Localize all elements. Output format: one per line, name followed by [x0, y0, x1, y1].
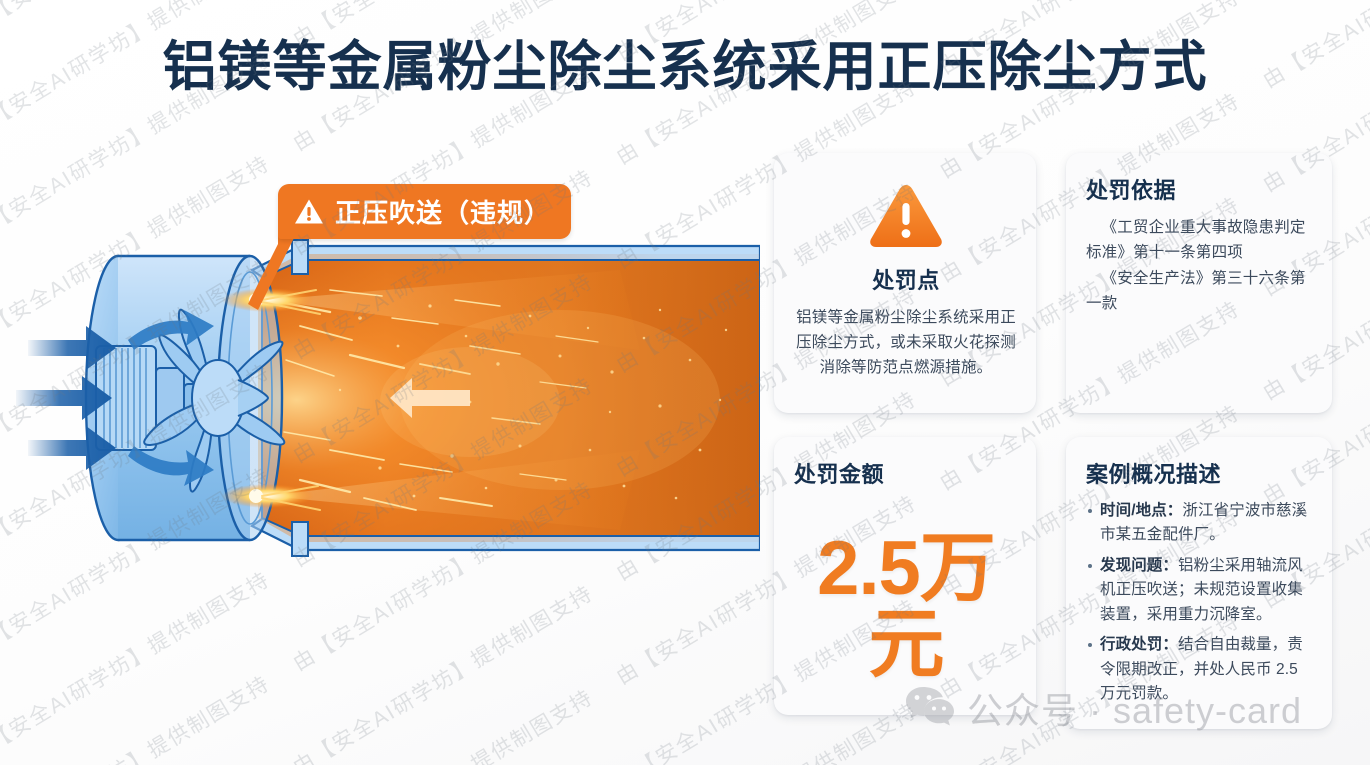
- card-body-penalty-point: 铝镁等金属粉尘除尘系统采用正压除尘方式，或未采取火花探测消除等防范点燃源措施。: [794, 305, 1018, 380]
- bullet-label: 时间/地点：: [1100, 502, 1182, 519]
- wechat-icon: [905, 685, 955, 732]
- page-title: 铝镁等金属粉尘除尘系统采用正压除尘方式: [0, 36, 1370, 98]
- callout-badge-label: 正压吹送（违规）: [335, 193, 551, 230]
- card-title-case-summary: 案例概况描述: [1086, 457, 1314, 489]
- card-title-penalty-point: 处罚点: [794, 263, 1018, 295]
- legal-basis-line-1: 《工贸企业重大事故隐患判定标准》第十一条第四项: [1086, 215, 1314, 265]
- card-body-legal-basis: 《工贸企业重大事故隐患判定标准》第十一条第四项 《安全生产法》第三十六条第一款: [1086, 215, 1314, 316]
- card-legal-basis: 处罚依据 《工贸企业重大事故隐患判定标准》第十一条第四项 《安全生产法》第三十六…: [1066, 153, 1332, 413]
- brand-watermark-text: 公众号 · safety-card: [967, 682, 1302, 734]
- bullet-label: 发现问题：: [1100, 557, 1178, 574]
- callout-badge-positive-pressure: 正压吹送（违规）: [278, 184, 571, 239]
- warning-triangle-icon: [294, 198, 324, 225]
- fine-amount-value: 2.5万元: [794, 531, 1018, 683]
- warning-triangle-icon: [794, 181, 1018, 251]
- info-card-grid: 处罚点 铝镁等金属粉尘除尘系统采用正压除尘方式，或未采取火花探测消除等防范点燃源…: [770, 149, 1336, 729]
- case-summary-bullet-list: 时间/地点：浙江省宁波市慈溪市某五金配件厂。 发现问题：铝粉尘采用轴流风机正压吹…: [1086, 499, 1314, 707]
- page-root: 铝镁等金属粉尘除尘系统采用正压除尘方式: [0, 0, 1370, 765]
- legal-basis-line-2: 《安全生产法》第三十六条第一款: [1086, 266, 1314, 316]
- brand-watermark: 公众号 · safety-card: [905, 682, 1302, 734]
- card-title-legal-basis: 处罚依据: [1086, 173, 1314, 205]
- bullet-label: 行政处罚：: [1100, 636, 1178, 653]
- card-fine-amount: 处罚金额 2.5万元: [774, 437, 1036, 715]
- card-penalty-point: 处罚点 铝镁等金属粉尘除尘系统采用正压除尘方式，或未采取火花探测消除等防范点燃源…: [774, 153, 1036, 413]
- list-item: 发现问题：铝粉尘采用轴流风机正压吹送；未规范设置收集装置，采用重力沉降室。: [1086, 554, 1314, 627]
- list-item: 时间/地点：浙江省宁波市慈溪市某五金配件厂。: [1086, 499, 1314, 548]
- duct-housing: [252, 240, 760, 556]
- card-title-fine-amount: 处罚金额: [794, 457, 1018, 489]
